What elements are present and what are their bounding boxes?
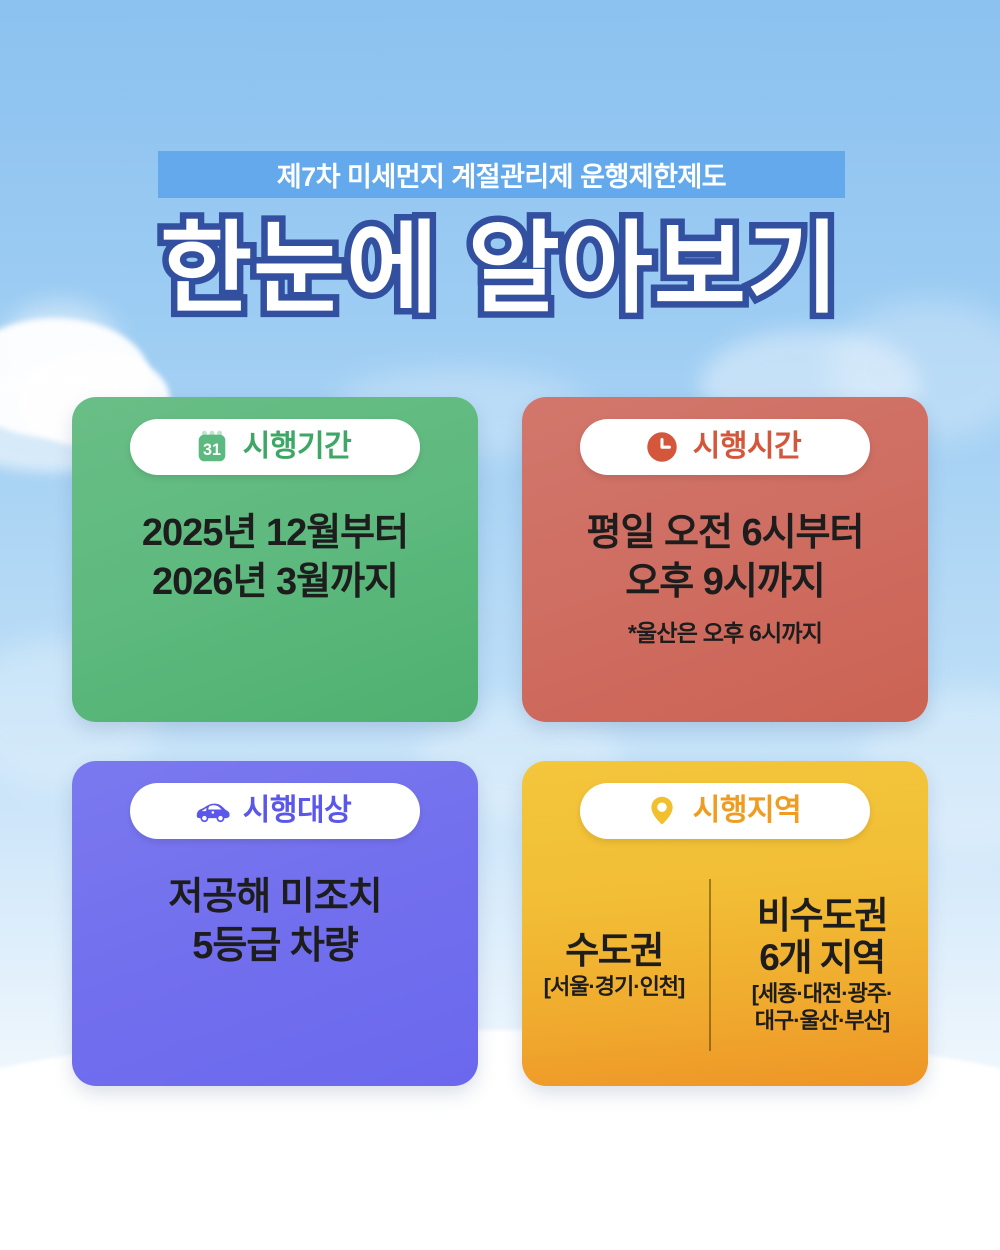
- region-column-nonmetropolitan: 비수도권 6개 지역 [세종·대전·광주· 대구·울산·부산]: [711, 895, 921, 1035]
- card-regions: 시행지역 수도권 [서울·경기·인천] 비수도권 6개 지역 [세종·대전·광주…: [522, 761, 928, 1086]
- calendar-icon: 31: [193, 428, 231, 466]
- card-target: 시행대상 저공해 미조치 5등급 차량: [72, 761, 478, 1086]
- card-hours-note: *울산은 오후 6시까지: [536, 614, 914, 648]
- subtitle-text: 제7차 미세먼지 계절관리제 운행제한제도: [277, 155, 726, 194]
- card-target-line-1: 저공해 미조치: [86, 873, 464, 922]
- card-hours-label: 시행시간: [693, 432, 801, 462]
- card-regions-label-pill: 시행지역: [580, 783, 870, 839]
- card-period-label-pill: 31 시행기간: [130, 419, 420, 475]
- card-period-line-1: 2025년 12월부터: [86, 509, 464, 558]
- region-nonmetropolitan-title-2: 6개 지역: [759, 937, 884, 978]
- card-period-body: 2025년 12월부터 2026년 3월까지: [72, 509, 478, 608]
- card-hours-body: 평일 오전 6시부터 오후 9시까지 *울산은 오후 6시까지: [522, 509, 928, 648]
- svg-text:31: 31: [203, 441, 221, 459]
- infographic-poster: 제7차 미세먼지 계절관리제 운행제한제도 한눈에 알아보기 31 시행기간 2…: [0, 0, 1000, 1250]
- region-metropolitan-sub: [서울·경기·인천]: [544, 973, 685, 1001]
- region-nonmetropolitan-sub-1: [세종·대전·광주·: [752, 980, 893, 1008]
- card-hours-line-1: 평일 오전 6시부터: [536, 509, 914, 558]
- card-target-body: 저공해 미조치 5등급 차량: [72, 873, 478, 972]
- card-target-label-pill: 시행대상: [130, 783, 420, 839]
- card-hours-line-2: 오후 9시까지: [536, 558, 914, 607]
- subtitle-banner: 제7차 미세먼지 계절관리제 운행제한제도: [158, 151, 845, 198]
- card-period: 31 시행기간 2025년 12월부터 2026년 3월까지: [72, 397, 478, 722]
- page-title: 한눈에 알아보기: [0, 207, 1000, 332]
- card-hours-label-pill: 시행시간: [580, 419, 870, 475]
- region-nonmetropolitan-sub-2: 대구·울산·부산]: [755, 1007, 889, 1035]
- card-regions-body: 수도권 [서울·경기·인천] 비수도권 6개 지역 [세종·대전·광주· 대구·…: [522, 865, 928, 1065]
- card-target-label: 시행대상: [243, 796, 351, 826]
- card-period-line-2: 2026년 3월까지: [86, 558, 464, 607]
- card-hours: 시행시간 평일 오전 6시부터 오후 9시까지 *울산은 오후 6시까지: [522, 397, 928, 722]
- card-target-line-2: 5등급 차량: [86, 922, 464, 971]
- card-regions-label: 시행지역: [693, 796, 801, 826]
- clock-icon: [643, 428, 681, 466]
- region-column-metropolitan: 수도권 [서울·경기·인천]: [529, 930, 709, 1001]
- region-metropolitan-title: 수도권: [565, 930, 663, 971]
- card-period-label: 시행기간: [243, 432, 351, 462]
- region-nonmetropolitan-title-1: 비수도권: [757, 895, 887, 936]
- car-icon: [193, 792, 231, 830]
- map-pin-icon: [643, 792, 681, 830]
